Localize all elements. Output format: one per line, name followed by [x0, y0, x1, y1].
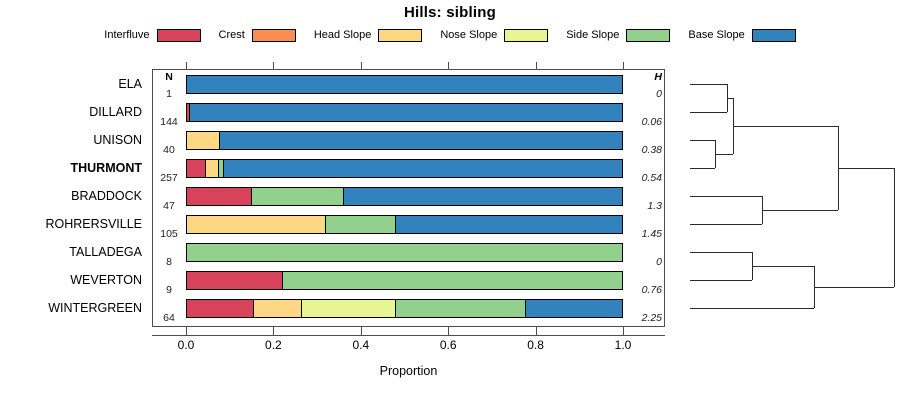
legend-item-interfluve: Interfluve [104, 29, 200, 42]
table-row [186, 159, 623, 178]
x-tick-bottom [273, 327, 274, 335]
legend-item-nose-slope: Nose Slope [440, 29, 548, 42]
h-column: H00.060.380.541.31.4500.762.25 [624, 70, 664, 326]
legend-swatch [626, 29, 670, 42]
n-value: 257 [153, 172, 185, 184]
h-value: 0.76 [624, 284, 662, 296]
n-value: 9 [153, 284, 185, 296]
x-tick-label: 0.4 [352, 338, 369, 352]
y-axis-label-ela: ELA [118, 77, 142, 91]
dendro-branch [690, 196, 762, 197]
x-tick-bottom [361, 327, 362, 335]
x-axis-title: Proportion [152, 364, 665, 378]
bar-segment-side-slope [326, 216, 396, 233]
n-value: 144 [153, 116, 185, 128]
h-value: 0.38 [624, 144, 662, 156]
y-axis-label-talladega: TALLADEGA [69, 245, 142, 259]
bar-segment-base-slope [526, 300, 622, 317]
bar-segment-head-slope [206, 160, 219, 177]
x-tick-bottom [448, 327, 449, 335]
table-row [186, 215, 623, 234]
dendro-branch [690, 112, 727, 113]
bar-segment-base-slope [220, 132, 622, 149]
bar-segment-head-slope [187, 132, 220, 149]
bar-segment-base-slope [190, 104, 622, 121]
h-value: 1.45 [624, 228, 662, 240]
dendro-branch [762, 210, 838, 211]
chart-title: Hills: sibling [0, 4, 900, 21]
dendro-branch [838, 168, 894, 169]
table-row [186, 75, 623, 94]
y-axis-label-weverton: WEVERTON [70, 273, 142, 287]
y-axis-label-rohrersville: ROHRERSVILLE [45, 217, 142, 231]
legend-swatch [504, 29, 548, 42]
h-value: 2.25 [624, 312, 662, 324]
dendro-branch [733, 126, 838, 127]
dendro-branch [690, 140, 715, 141]
y-axis-labels: ELADILLARDUNISONTHURMONTBRADDOCKROHRERSV… [0, 69, 148, 327]
h-value: 0.54 [624, 172, 662, 184]
bar-segment-nose-slope [302, 300, 396, 317]
dendro-join [894, 168, 895, 287]
legend-swatch [157, 29, 201, 42]
bar-segment-side-slope [283, 272, 622, 289]
legend-label: Crest [219, 29, 245, 41]
dendro-branch [752, 266, 814, 267]
legend-item-side-slope: Side Slope [566, 29, 670, 42]
n-column-header: N [153, 71, 185, 83]
table-row [186, 271, 623, 290]
dendro-branch [690, 280, 752, 281]
bar-segment-head-slope [187, 216, 326, 233]
x-tick-label: 0.0 [178, 338, 195, 352]
dendro-branch [690, 308, 814, 309]
dendro-branch [690, 252, 752, 253]
y-axis-label-dillard: DILLARD [89, 105, 142, 119]
legend-item-head-slope: Head Slope [314, 29, 423, 42]
stacked-bars [186, 70, 623, 326]
y-axis-label-thurmont: THURMONT [70, 161, 142, 175]
legend-label: Head Slope [314, 29, 372, 41]
dendro-branch [814, 287, 894, 288]
n-value: 64 [153, 312, 185, 324]
n-value: 40 [153, 144, 185, 156]
bar-segment-head-slope [254, 300, 302, 317]
dendro-branch [690, 168, 715, 169]
h-value: 0 [624, 256, 662, 268]
bar-segment-side-slope [396, 300, 527, 317]
legend-item-crest: Crest [219, 29, 296, 42]
bar-segment-interfluve [187, 188, 252, 205]
dendro-branch [690, 224, 762, 225]
h-value: 0.06 [624, 116, 662, 128]
bar-segment-base-slope [344, 188, 622, 205]
x-axis-line [152, 335, 665, 336]
bar-segment-interfluve [187, 160, 206, 177]
x-tick-label: 0.8 [527, 338, 544, 352]
table-row [186, 103, 623, 122]
x-tick-label: 0.2 [265, 338, 282, 352]
h-value: 0 [624, 88, 662, 100]
legend-item-base-slope: Base Slope [688, 29, 795, 42]
table-row [186, 131, 623, 150]
bar-segment-base-slope [224, 160, 622, 177]
x-tick-bottom [536, 327, 537, 335]
n-column: N114440257471058964 [153, 70, 185, 326]
n-value: 47 [153, 200, 185, 212]
y-axis-label-unison: UNISON [93, 133, 142, 147]
legend-label: Base Slope [688, 29, 744, 41]
bar-segment-side-slope [252, 188, 343, 205]
legend-label: Side Slope [566, 29, 619, 41]
h-column-header: H [624, 71, 662, 83]
table-row [186, 299, 623, 318]
y-axis-label-wintergreen: WINTERGREEN [48, 301, 142, 315]
dendrogram [668, 69, 900, 327]
plot-panel: N114440257471058964 H00.060.380.541.31.4… [152, 69, 665, 327]
bar-segment-interfluve [187, 272, 283, 289]
n-value: 105 [153, 228, 185, 240]
legend-label: Interfluve [104, 29, 149, 41]
dendro-branch [715, 154, 734, 155]
x-axis-tick-labels: 0.00.20.40.60.81.0 [152, 338, 665, 354]
x-tick-bottom [186, 327, 187, 335]
x-tick-label: 0.6 [440, 338, 457, 352]
dendro-branch [690, 84, 727, 85]
table-row [186, 187, 623, 206]
bar-segment-interfluve [187, 300, 254, 317]
bar-segment-base-slope [396, 216, 622, 233]
bar-segment-base-slope [187, 76, 622, 93]
bar-segment-side-slope [187, 244, 622, 261]
legend-label: Nose Slope [440, 29, 497, 41]
x-tick-label: 1.0 [615, 338, 632, 352]
x-tick-bottom [623, 327, 624, 335]
y-axis-label-braddock: BRADDOCK [71, 189, 142, 203]
legend-swatch [252, 29, 296, 42]
legend-swatch [378, 29, 422, 42]
legend: InterfluveCrestHead SlopeNose SlopeSide … [0, 26, 900, 44]
n-value: 1 [153, 88, 185, 100]
n-value: 8 [153, 256, 185, 268]
legend-swatch [752, 29, 796, 42]
h-value: 1.3 [624, 200, 662, 212]
table-row [186, 243, 623, 262]
